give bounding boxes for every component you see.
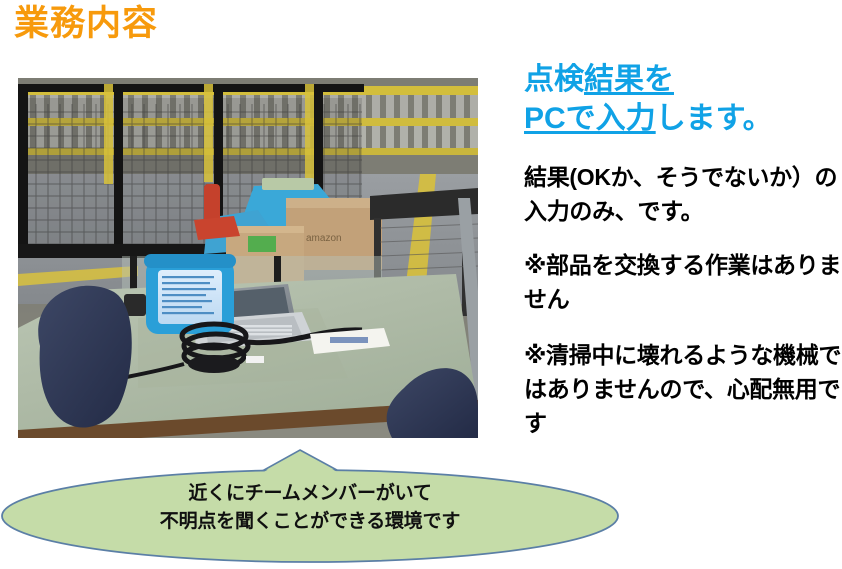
callout-text: 近くにチームメンバーがいて 不明点を聞くことができる環境です [0,480,620,535]
photo-illustration: amazon [18,78,478,438]
svg-text:amazon: amazon [306,233,342,244]
heading-line1-underlined: 結果を [584,63,674,96]
text-column: 点検結果を PCで入力します。 結果(OKか、そうでないか）の入力のみ、です。 … [524,60,842,460]
chair-left [38,286,132,428]
heading-line2-plain: します。 [656,102,773,135]
callout-line-1: 近くにチームメンバーがいて [188,483,431,504]
page-title: 業務内容 [14,4,158,44]
blue-heading: 点検結果を PCで入力します。 [524,60,842,138]
heading-line2-underlined: PCで入力 [524,102,656,135]
body-paragraph-1: 結果(OKか、そうでないか）の入力のみ、です。 [524,160,842,228]
body-paragraph-3: ※清掃中に壊れるような機械ではありませんので、心配無用です [524,338,842,440]
callout-line-2: 不明点を聞くことができる環境です [160,511,460,532]
slide-canvas: 業務内容 [0,0,842,569]
speech-callout: 近くにチームメンバーがいて 不明点を聞くことができる環境です [0,440,640,569]
body-paragraph-2: ※部品を交換する作業はありません [524,248,842,316]
workplace-photo: amazon [18,78,478,438]
heading-line1-plain: 点検 [524,63,584,96]
